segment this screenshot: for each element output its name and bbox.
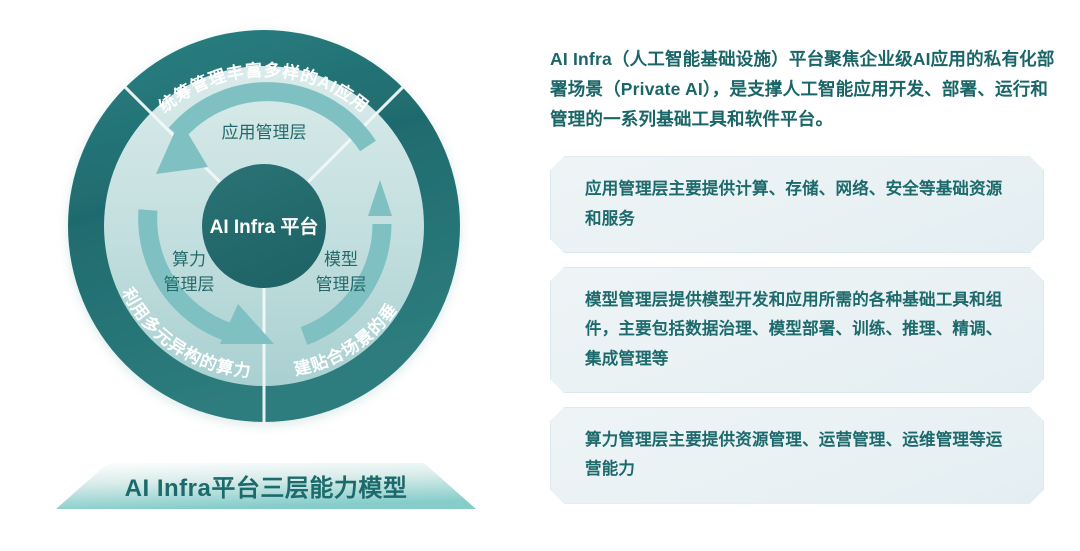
platform-banner: AI Infra平台三层能力模型 — [56, 463, 476, 511]
layer-label-application: 应用管理层 — [222, 123, 307, 142]
description-panel: AI Infra（人工智能基础设施）平台聚焦企业级AI应用的私有化部署场景（Pr… — [520, 0, 1080, 551]
infographic-root: AI Infra 平台 应用管理层 算力 管理层 模型 管理层 统筹管理丰富多样… — [0, 0, 1080, 551]
layer-label-compute-line2: 管理层 — [164, 275, 215, 294]
center-label: AI Infra 平台 — [210, 215, 319, 238]
info-card-model-layer: 模型管理层提供模型开发和应用所需的各种基础工具和组件，主要包括数据治理、模型部署… — [550, 267, 1044, 393]
info-card-text: 模型管理层提供模型开发和应用所需的各种基础工具和组件，主要包括数据治理、模型部署… — [585, 291, 1003, 368]
info-card-text: 应用管理层主要提供计算、存储、网络、安全等基础资源和服务 — [585, 180, 1003, 227]
layer-label-model-line1: 模型 — [324, 250, 358, 269]
layer-label-compute-line1: 算力 — [172, 250, 206, 269]
info-card-text: 算力管理层主要提供资源管理、运营管理、运维管理等运营能力 — [585, 431, 1003, 478]
intro-paragraph: AI Infra（人工智能基础设施）平台聚焦企业级AI应用的私有化部署场景（Pr… — [550, 44, 1056, 134]
three-layer-wheel-diagram: AI Infra 平台 应用管理层 算力 管理层 模型 管理层 统筹管理丰富多样… — [0, 0, 520, 551]
info-card-application-layer: 应用管理层主要提供计算、存储、网络、安全等基础资源和服务 — [550, 156, 1044, 253]
banner-title: AI Infra平台三层能力模型 — [56, 463, 476, 511]
wheel-svg: AI Infra 平台 应用管理层 算力 管理层 模型 管理层 统筹管理丰富多样… — [52, 14, 476, 474]
info-card-compute-layer: 算力管理层主要提供资源管理、运营管理、运维管理等运营能力 — [550, 407, 1044, 504]
layer-label-model-line2: 管理层 — [316, 275, 367, 294]
